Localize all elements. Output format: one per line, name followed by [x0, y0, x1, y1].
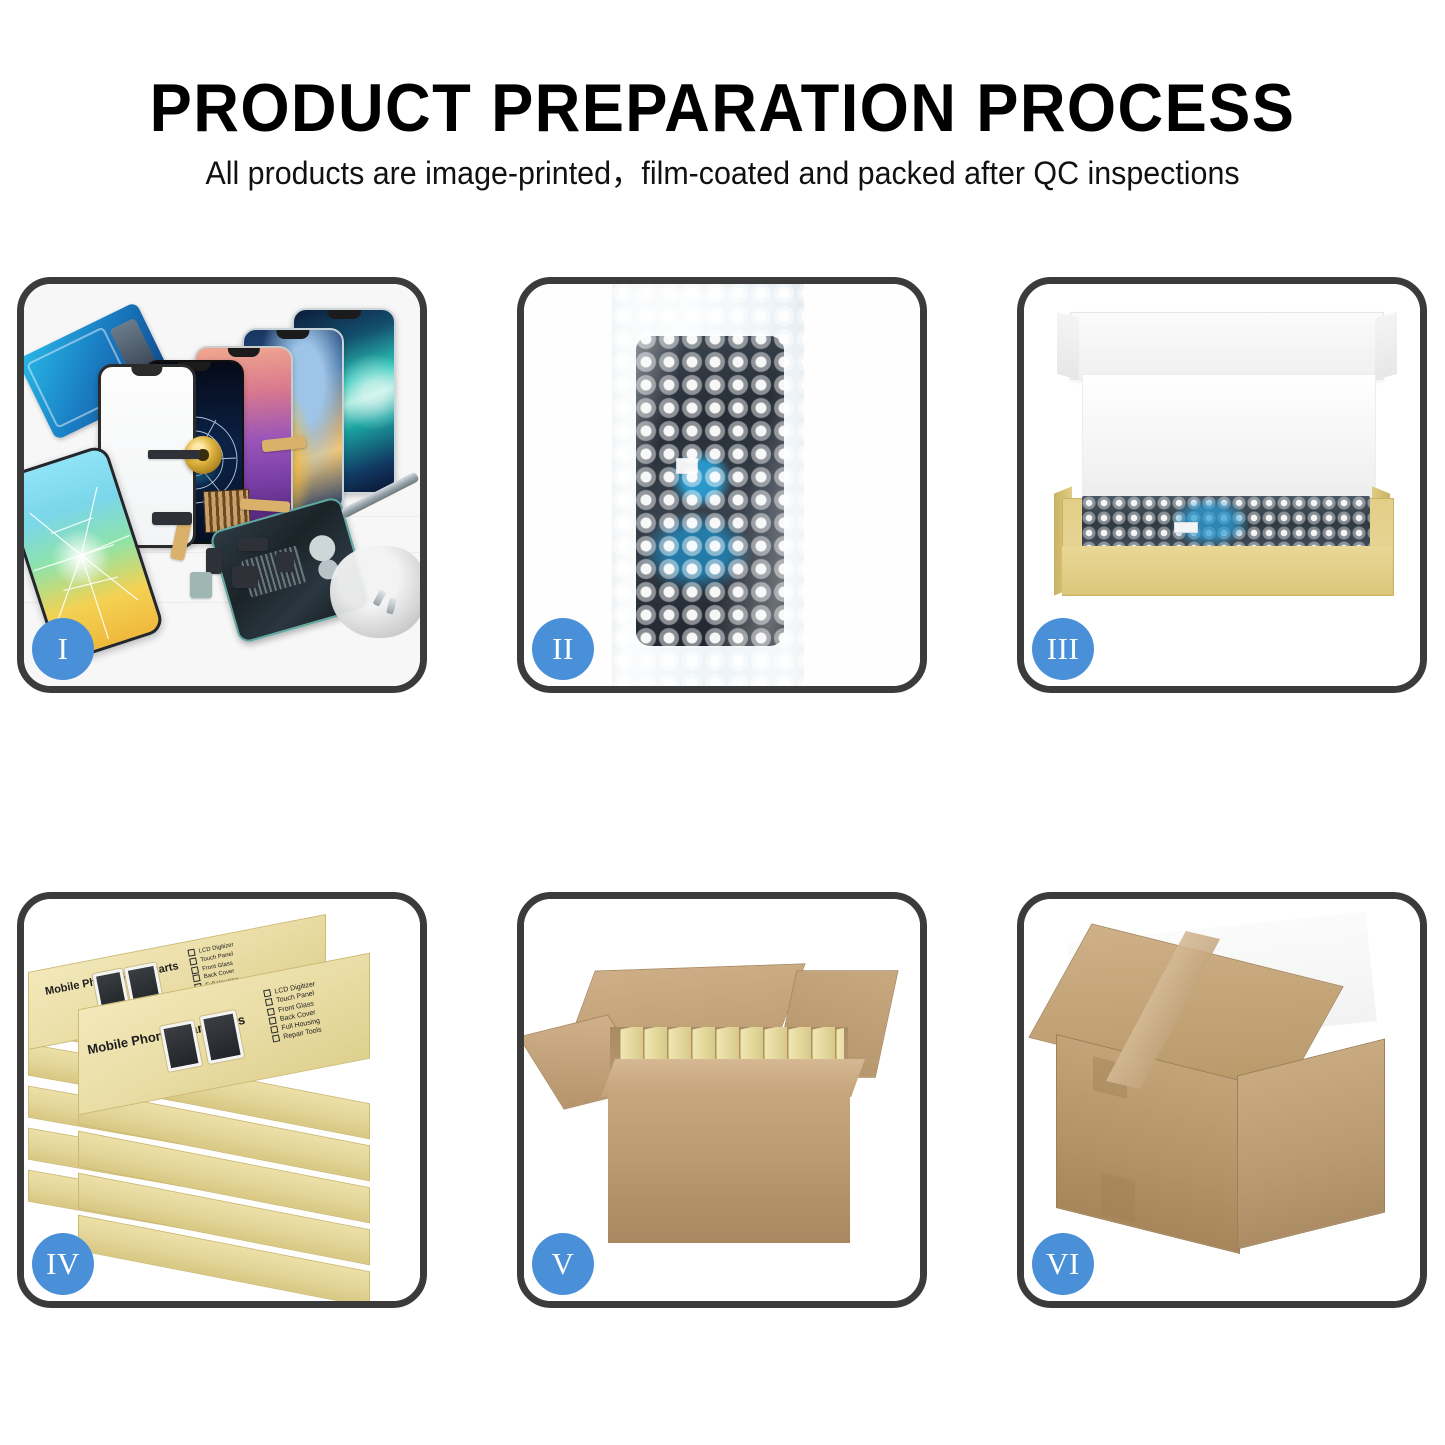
box-back-wall [1082, 374, 1376, 504]
process-step-grid: I II [0, 0, 1445, 1445]
step-badge-6: VI [1032, 1233, 1094, 1295]
step-badge-1: I [32, 618, 94, 680]
process-step-panel-4[interactable]: Mobile Phone Spare Parts LCD Digitizer T… [17, 892, 427, 1308]
vibrator-motor-icon [238, 538, 268, 551]
camera-module-icon [232, 566, 258, 588]
process-step-panel-1[interactable]: I [17, 277, 427, 693]
earpiece-mesh-icon [148, 450, 200, 459]
step-badge-5: V [532, 1233, 594, 1295]
process-step-panel-6[interactable]: VI [1017, 892, 1427, 1308]
step-badge-3: III [1032, 618, 1094, 680]
step-badge-4: IV [32, 1233, 94, 1295]
bubble-wrap-bag [612, 284, 804, 686]
box-lid [1070, 312, 1384, 380]
retail-box-checklist-front: LCD Digitizer Touch Panel Front Glass Ba… [263, 981, 325, 1046]
connector-icon [152, 512, 192, 525]
button-flex-icon [206, 548, 222, 574]
process-step-panel-3[interactable]: III [1017, 277, 1427, 693]
product-label-sticker [1174, 522, 1198, 533]
process-step-panel-5[interactable]: V [517, 892, 927, 1308]
plastic-sheen-overlay [612, 284, 804, 686]
process-step-panel-2[interactable]: II [517, 277, 927, 693]
small-chip-icon [276, 552, 294, 572]
carton-side-face [1237, 1039, 1385, 1250]
step-badge-2: II [532, 618, 594, 680]
carton-tape-patch [1101, 1172, 1135, 1222]
box-front-wall [1062, 546, 1392, 594]
sim-tray-icon [190, 572, 212, 598]
carton-front-face [608, 1083, 850, 1243]
gloved-hand-icon [330, 546, 420, 638]
